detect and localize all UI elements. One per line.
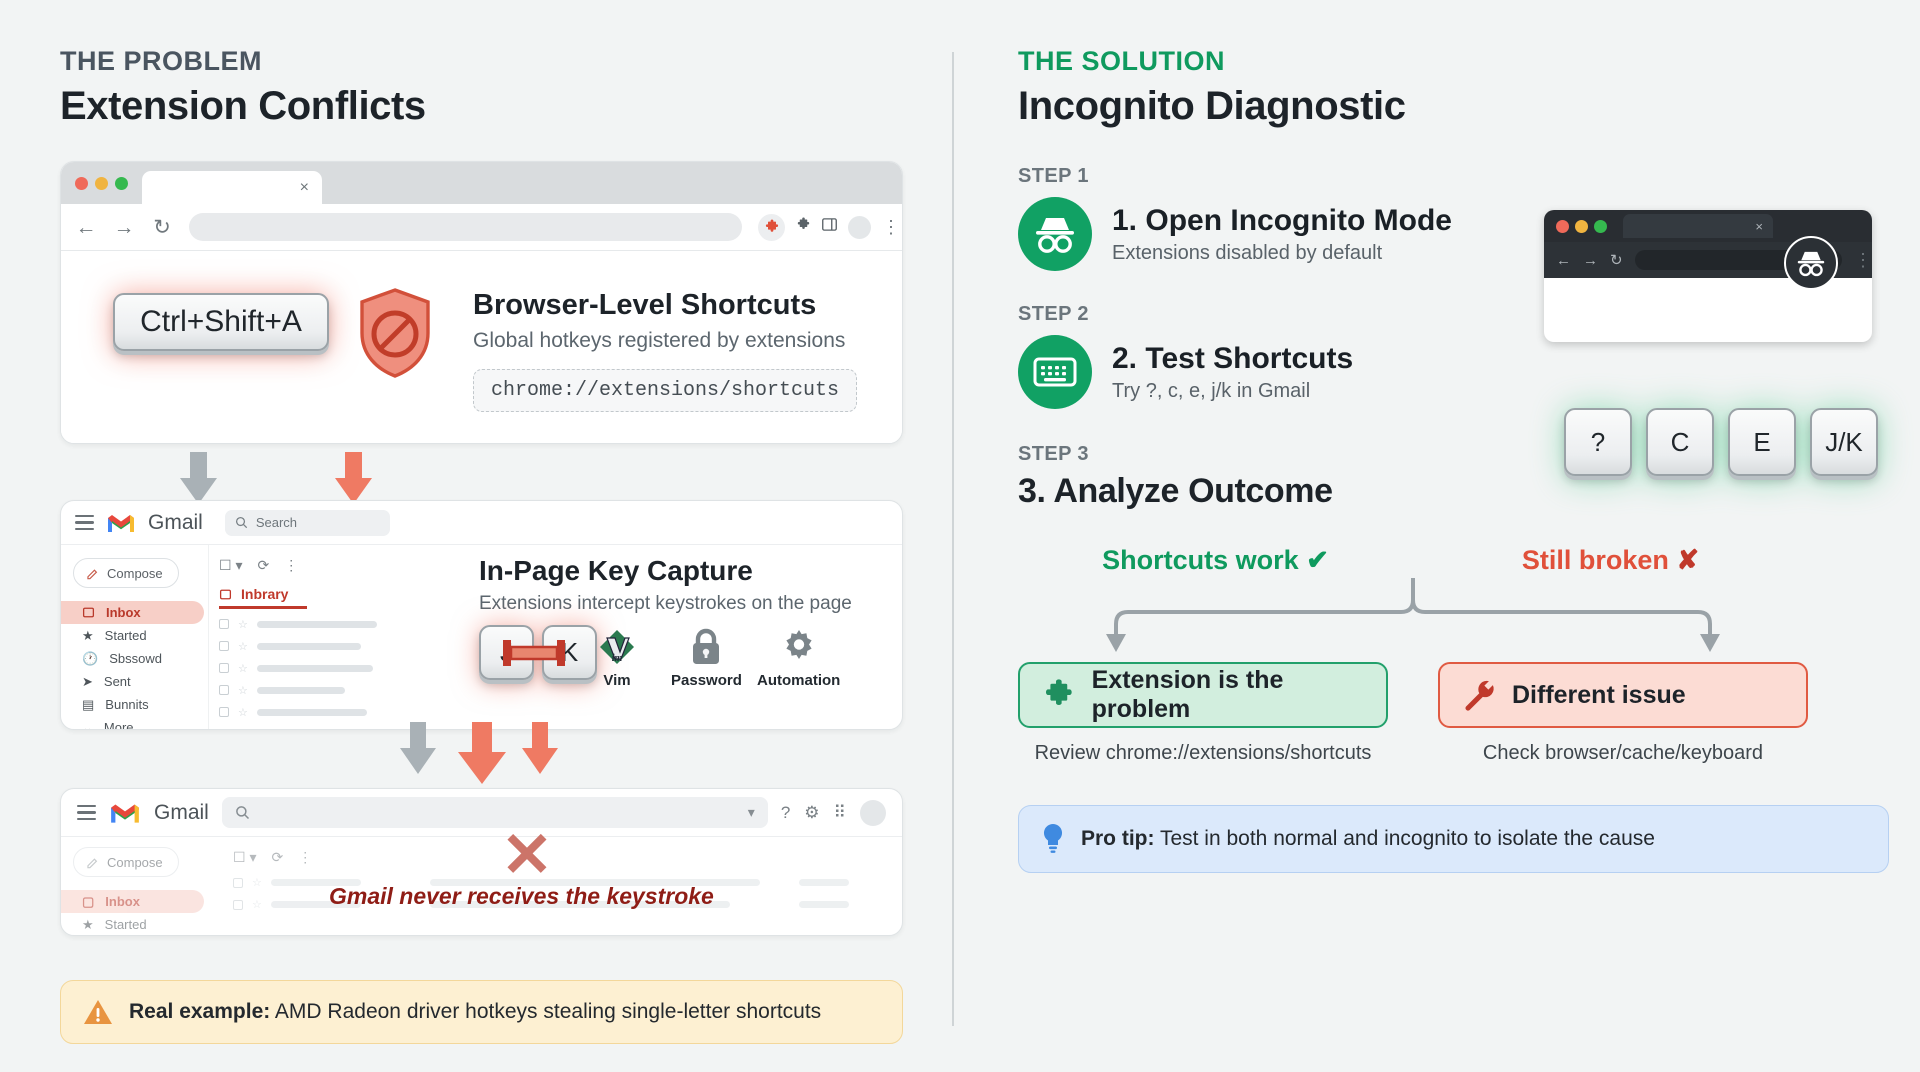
- success-label-wrap: Shortcuts work ✔: [1018, 545, 1413, 576]
- gmail2-nav-0: Inbox: [105, 894, 140, 909]
- branch-connector: [1018, 578, 1808, 658]
- sidebar-label-4: Bunnits: [105, 697, 148, 712]
- inbox-icon: [82, 606, 95, 619]
- send-icon: ➤: [82, 674, 93, 690]
- fail-label: Still broken: [1522, 545, 1669, 575]
- sidebar-item-inbox[interactable]: ▢ Inbox: [61, 890, 204, 913]
- maximize-window-dot[interactable]: [1594, 220, 1607, 233]
- browser-card-heading: Browser-Level Shortcuts: [473, 289, 883, 322]
- capture-card-text: In-Page Key Capture Extensions intercept…: [479, 555, 879, 615]
- grey-arrow-1: [180, 452, 217, 504]
- extension-automation-label: Automation: [757, 672, 840, 689]
- step-1-heading: 1. Open Incognito Mode: [1112, 204, 1452, 238]
- red-arrow-1: [335, 452, 372, 504]
- address-bar[interactable]: [189, 213, 742, 241]
- real-example-text: Real example: AMD Radeon driver hotkeys …: [129, 1000, 821, 1024]
- kebab-menu-icon[interactable]: ⋮: [882, 222, 888, 233]
- gmail2-search-box[interactable]: ▾: [222, 797, 768, 828]
- sidebar-item-inbox[interactable]: Inbox: [61, 601, 204, 624]
- compose-button[interactable]: Compose: [73, 558, 179, 588]
- reload-icon[interactable]: ↻: [1610, 251, 1623, 269]
- kebab-menu-icon[interactable]: ⋮: [1854, 255, 1860, 266]
- lightbulb-icon: [1041, 823, 1065, 855]
- gmail-brand-label: Gmail: [148, 511, 203, 535]
- hamburger-menu-icon[interactable]: [77, 801, 96, 824]
- infographic-root: THE PROBLEM Extension Conflicts × ← → ↻: [0, 0, 1920, 1072]
- help-icon[interactable]: ?: [781, 803, 790, 823]
- fail-outcome: Different issue Check browser/cache/keyb…: [1438, 662, 1808, 765]
- failure-x-icon: ✕: [501, 825, 553, 887]
- refresh-icon[interactable]: ⟳: [257, 557, 269, 574]
- capture-subheading: Extensions intercept keystrokes on the p…: [479, 593, 879, 615]
- svg-text:im: im: [612, 653, 623, 664]
- sidebar-item-sent[interactable]: ➤ Sent: [73, 670, 208, 693]
- extension-password: Password: [671, 627, 742, 689]
- row-star-icon[interactable]: ☆: [238, 618, 248, 631]
- warning-triangle-icon: [83, 998, 113, 1026]
- sidebar-item-snoozed[interactable]: 🕐 Sbssowd: [73, 647, 208, 670]
- gmail-search-box[interactable]: Search: [225, 510, 390, 536]
- lock-icon: [687, 627, 725, 667]
- avatar[interactable]: [860, 800, 886, 826]
- success-caption: Review chrome://extensions/shortcuts: [1018, 742, 1388, 765]
- gmail2-topbar: Gmail ▾ ? ⚙ ⠿: [61, 789, 902, 837]
- different-issue-box[interactable]: Different issue: [1438, 662, 1808, 728]
- back-icon[interactable]: ←: [75, 217, 97, 238]
- row-preview: [257, 643, 361, 650]
- success-outcome: Extension is the problem Review chrome:/…: [1018, 662, 1388, 765]
- select-all-checkbox[interactable]: ☐ ▾: [233, 849, 256, 866]
- gmail-message-list: ☐ ▾ ⟳ ⋮ Inbrary ☆ ☆ ☆ ☆ ☆ In-Page: [208, 545, 902, 730]
- gmail2-nav-1: Started: [105, 917, 147, 932]
- sidebar-item-started[interactable]: ★ Started: [73, 913, 221, 936]
- window-controls[interactable]: [75, 162, 128, 204]
- problem-title: Extension Conflicts: [60, 84, 952, 129]
- extension-password-label: Password: [671, 672, 742, 689]
- search-icon: [235, 805, 250, 820]
- search-icon: [235, 516, 248, 529]
- test-keycaps: ? C E J/K: [1564, 408, 1878, 476]
- star-icon: ★: [82, 917, 94, 933]
- gmail-body: Compose Inbox ★ Started 🕐 Sbssowd: [61, 545, 902, 730]
- refresh-icon[interactable]: ⟳: [271, 849, 283, 866]
- back-icon[interactable]: ←: [1556, 252, 1571, 269]
- clock-icon: 🕐: [82, 651, 98, 667]
- gmail-sidebar: Compose Inbox ★ Started 🕐 Sbssowd: [61, 545, 208, 730]
- outcome-labels: Shortcuts work ✔ Still broken ✘: [1018, 545, 1808, 576]
- solution-title: Incognito Diagnostic: [1018, 84, 1920, 129]
- solution-column: THE SOLUTION Incognito Diagnostic STEP 1…: [954, 0, 1920, 1072]
- row-preview: [257, 621, 377, 628]
- step-1-circle: [1018, 197, 1092, 271]
- row-star-icon[interactable]: ☆: [252, 898, 262, 911]
- gmail-logo-icon: [106, 512, 136, 534]
- sidebar-label-1: Started: [105, 628, 147, 643]
- inbox-tab-underline: [219, 606, 307, 609]
- select-all-checkbox[interactable]: ☐ ▾: [219, 557, 242, 574]
- tab-close-icon[interactable]: ×: [300, 179, 309, 197]
- incognito-icon: [1032, 214, 1078, 254]
- row-star-icon[interactable]: ☆: [238, 706, 248, 719]
- toolbar-icons: ⋮: [758, 214, 888, 241]
- star-icon: ★: [82, 628, 94, 644]
- incognito-browser-window: × ← → ↻ ⋮: [1544, 210, 1872, 342]
- row-checkbox[interactable]: [219, 685, 229, 695]
- extension-red-puzzle-icon[interactable]: [758, 214, 785, 241]
- success-label: Shortcuts work: [1102, 545, 1299, 575]
- gmail-topbar: Gmail Search: [61, 501, 902, 545]
- failure-message: Gmail never receives the keystroke: [329, 883, 714, 910]
- grey-arrow-2: [400, 722, 436, 774]
- profile-avatar[interactable]: [848, 216, 871, 239]
- browser-card-subheading: Global hotkeys registered by extensions: [473, 329, 883, 353]
- tab-close-icon[interactable]: ×: [1755, 219, 1763, 234]
- extension-automation: Automation: [757, 627, 840, 689]
- maximize-window-dot[interactable]: [115, 177, 128, 190]
- more-options-icon[interactable]: ⋮: [298, 849, 312, 866]
- incognito-icon: [1795, 249, 1827, 277]
- pro-tip-text: Pro tip: Test in both normal and incogni…: [1081, 827, 1655, 851]
- red-arrow-2: [458, 722, 506, 784]
- step-1-label: STEP 1: [1018, 165, 1920, 188]
- step-2-circle: [1018, 335, 1092, 409]
- extension-vim: im Vim: [597, 627, 637, 689]
- pro-tip-banner: Pro tip: Test in both normal and incogni…: [1018, 805, 1889, 873]
- success-box-label: Extension is the problem: [1092, 666, 1386, 724]
- incognito-badge: [1784, 236, 1838, 290]
- real-example-label: Real example:: [129, 1000, 270, 1023]
- puzzle-piece-icon: [1042, 678, 1076, 712]
- sidebar-item-more[interactable]: ⌄ More: [73, 716, 208, 730]
- extension-vim-label: Vim: [603, 672, 630, 689]
- solution-kicker: THE SOLUTION: [1018, 46, 1920, 77]
- keycap-e: E: [1728, 408, 1796, 476]
- close-window-dot[interactable]: [1556, 220, 1569, 233]
- sidebar-item-started[interactable]: ★ Started: [73, 624, 208, 647]
- list-item: ☆: [219, 706, 902, 719]
- blocked-barrier-icon: [503, 640, 565, 666]
- gmail2-sidebar: Compose ▢ Inbox ★ Started: [61, 837, 221, 935]
- capture-heading: In-Page Key Capture: [479, 555, 879, 587]
- inbox-icon: ▢: [82, 894, 94, 910]
- forward-icon[interactable]: →: [1583, 252, 1598, 269]
- cross-icon: ✘: [1676, 545, 1699, 575]
- compose-label: Compose: [107, 855, 163, 870]
- row-checkbox[interactable]: [219, 707, 229, 717]
- keycap-question: ?: [1564, 408, 1632, 476]
- outcome-boxes: Extension is the problem Review chrome:/…: [1018, 662, 1920, 765]
- pro-tip-body: Test in both normal and incognito to iso…: [1155, 827, 1655, 850]
- gmail2-brand-label: Gmail: [154, 801, 209, 825]
- hamburger-menu-icon[interactable]: [75, 511, 94, 534]
- apps-grid-icon[interactable]: ⠿: [834, 803, 846, 823]
- arrows-card2-to-card3: [380, 722, 740, 784]
- minimize-window-dot[interactable]: [95, 177, 108, 190]
- problem-kicker: THE PROBLEM: [60, 46, 952, 77]
- compose-button[interactable]: Compose: [73, 847, 179, 877]
- step-2-row: 2. Test Shortcuts Try ?, c, e, j/k in Gm…: [1018, 335, 1920, 409]
- wrench-icon: [1462, 678, 1496, 712]
- gmail-no-keystroke-card: Gmail ▾ ? ⚙ ⠿ Compose: [60, 788, 903, 936]
- step-1-sub: Extensions disabled by default: [1112, 242, 1452, 265]
- sidebar-item-drafts[interactable]: ▤ Bunnits: [73, 693, 208, 716]
- red-arrow-3: [522, 722, 558, 774]
- shortcuts-url-chip[interactable]: chrome://extensions/shortcuts: [473, 369, 857, 412]
- browser-viewport: Ctrl+Shift+A Browser-Level Shortcuts Glo…: [61, 251, 902, 444]
- extensions-puzzle-icon[interactable]: [796, 217, 811, 237]
- step-2-sub: Try ?, c, e, j/k in Gmail: [1112, 380, 1353, 403]
- browser-shortcuts-card: × ← → ↻: [60, 161, 903, 444]
- fail-caption: Check browser/cache/keyboard: [1438, 742, 1808, 765]
- vim-icon: im: [597, 627, 637, 667]
- gmail-search-label: Search: [256, 515, 297, 530]
- row-star-icon[interactable]: ☆: [238, 684, 248, 697]
- row-star-icon[interactable]: ☆: [238, 662, 248, 675]
- browser-tabbar: ×: [61, 162, 902, 204]
- fail-label-wrap: Still broken ✘: [1413, 545, 1808, 576]
- keyboard-icon: [1033, 355, 1077, 389]
- row-date: [799, 879, 849, 886]
- step-1-text: 1. Open Incognito Mode Extensions disabl…: [1112, 204, 1452, 265]
- browser-toolbar: ← → ↻ ⋮: [61, 204, 902, 251]
- gmail2-actions: ? ⚙ ⠿: [781, 800, 886, 826]
- pencil-icon: [86, 856, 99, 869]
- pencil-icon: [86, 567, 99, 580]
- list-toolbar: ☐ ▾ ⟳ ⋮: [233, 847, 902, 867]
- browser-card-text: Browser-Level Shortcuts Global hotkeys r…: [473, 289, 883, 412]
- sidebar-label-3: Sent: [104, 674, 131, 689]
- compose-label: Compose: [107, 566, 163, 581]
- sidebar-label-5: More: [104, 720, 134, 730]
- extension-is-problem-box[interactable]: Extension is the problem: [1018, 662, 1388, 728]
- step-3-heading: 3. Analyze Outcome: [1018, 472, 1920, 511]
- incognito-tab[interactable]: ×: [1623, 214, 1773, 238]
- forward-icon[interactable]: →: [113, 217, 135, 238]
- row-checkbox[interactable]: [219, 641, 229, 651]
- ctrl-shift-a-keycap: Ctrl+Shift+A: [113, 293, 329, 351]
- gmail-logo-icon: [109, 801, 141, 825]
- chevron-down-icon: ⌄: [82, 720, 93, 731]
- keycap-jk: J/K: [1810, 408, 1878, 476]
- close-window-dot[interactable]: [75, 177, 88, 190]
- real-example-banner: Real example: AMD Radeon driver hotkeys …: [60, 980, 903, 1044]
- pro-tip-label: Pro tip:: [1081, 827, 1155, 850]
- row-preview: [257, 665, 373, 672]
- browser-tab[interactable]: ×: [142, 171, 322, 204]
- fail-box-label: Different issue: [1512, 681, 1686, 710]
- check-icon: ✔: [1306, 545, 1329, 575]
- row-checkbox[interactable]: [233, 900, 243, 910]
- problem-column: THE PROBLEM Extension Conflicts × ← → ↻: [0, 0, 952, 1072]
- search-filter-chevron-icon[interactable]: ▾: [748, 804, 755, 821]
- document-icon: ▤: [82, 697, 94, 713]
- incognito-tabbar: ×: [1544, 210, 1872, 242]
- inbox-tab-label: Inbrary: [241, 586, 288, 602]
- sidebar-label-0: Inbox: [106, 605, 141, 620]
- sidebar-label-2: Sbssowd: [109, 651, 162, 666]
- keycap-c: C: [1646, 408, 1714, 476]
- settings-gear-icon[interactable]: ⚙: [804, 803, 819, 823]
- real-example-body: AMD Radeon driver hotkeys stealing singl…: [270, 1000, 821, 1023]
- reload-icon[interactable]: ↻: [151, 217, 173, 238]
- row-checkbox[interactable]: [219, 663, 229, 673]
- row-checkbox[interactable]: [219, 619, 229, 629]
- inbox-tab-icon: [219, 588, 232, 601]
- row-preview: [257, 687, 345, 694]
- row-checkbox[interactable]: [233, 878, 243, 888]
- gear-icon: [779, 627, 819, 667]
- step-2-heading: 2. Test Shortcuts: [1112, 342, 1353, 376]
- step-2-text: 2. Test Shortcuts Try ?, c, e, j/k in Gm…: [1112, 342, 1353, 403]
- row-preview: [257, 709, 367, 716]
- minimize-window-dot[interactable]: [1575, 220, 1588, 233]
- row-date: [799, 901, 849, 908]
- side-panel-icon[interactable]: [822, 217, 837, 237]
- more-options-icon[interactable]: ⋮: [284, 557, 298, 574]
- row-star-icon[interactable]: ☆: [252, 876, 262, 889]
- row-star-icon[interactable]: ☆: [238, 640, 248, 653]
- inpage-capture-card: Gmail Search Compose Inbox: [60, 500, 903, 730]
- blocked-shield-icon: [357, 287, 433, 384]
